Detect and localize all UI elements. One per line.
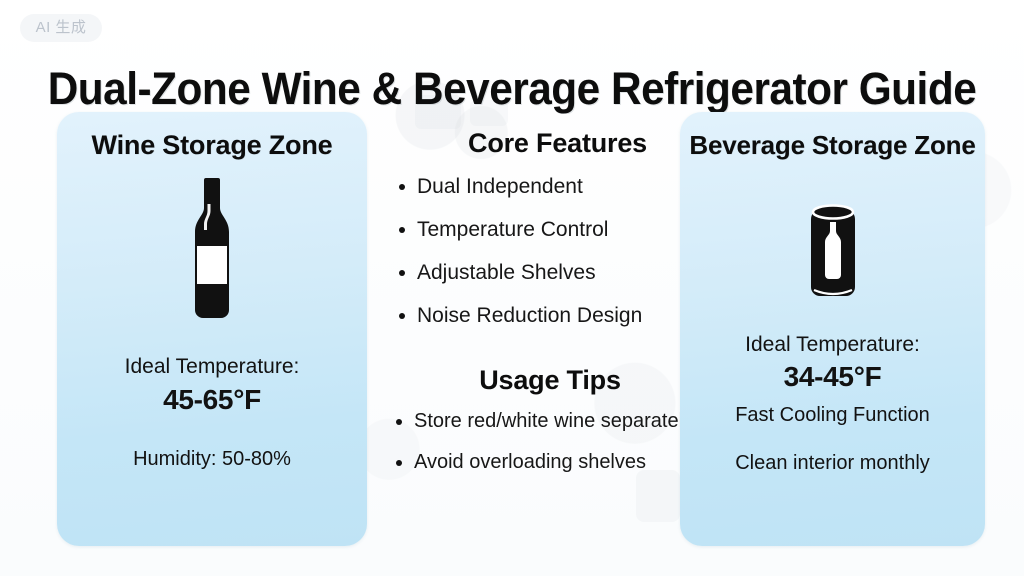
wine-temperature-label: Ideal Temperature: (57, 353, 367, 380)
core-features-list: Dual Independent Temperature Control Adj… (380, 165, 680, 337)
beverage-can-icon (805, 200, 861, 309)
bullet-dot-icon (399, 313, 405, 319)
wine-temperature-value: 45-65°F (57, 383, 367, 417)
bullet-dot-icon (399, 270, 405, 276)
list-item: Adjustable Shelves (380, 251, 680, 294)
list-item: Store red/white wine separately (380, 401, 680, 442)
beverage-temperature-value: 34-45°F (680, 360, 985, 394)
list-item: Dual Independent (380, 165, 680, 208)
page-title: Dual-Zone Wine & Beverage Refrigerator G… (31, 60, 994, 118)
bullet-dot-icon (399, 184, 405, 190)
beverage-zone-title: Beverage Storage Zone (680, 128, 985, 162)
list-item: Temperature Control (380, 208, 680, 251)
list-item: Noise Reduction Design (380, 294, 680, 337)
list-item-label: Temperature Control (417, 218, 608, 241)
wine-storage-zone-card: Wine Storage Zone Ideal Temperature: 45-… (57, 112, 367, 546)
wine-zone-title: Wine Storage Zone (57, 128, 367, 162)
list-item-label: Dual Independent (417, 175, 583, 198)
ai-generated-watermark: AI 生成 (20, 14, 102, 42)
beverage-feature-fast-cooling: Fast Cooling Function (680, 402, 985, 428)
beverage-temperature-label: Ideal Temperature: (680, 331, 985, 358)
usage-tips-section: Usage Tips Store red/white wine separate… (380, 363, 680, 483)
wine-bottle-icon (182, 174, 242, 329)
usage-tips-heading: Usage Tips (420, 363, 680, 397)
list-item-label: Adjustable Shelves (417, 261, 596, 284)
list-item-label: Store red/white wine separately (414, 410, 693, 432)
list-item: Avoid overloading shelves (380, 442, 680, 483)
bullet-dot-icon (396, 460, 402, 466)
beverage-feature-clean-interior: Clean interior monthly (680, 450, 985, 476)
usage-tips-list: Store red/white wine separately Avoid ov… (380, 401, 680, 483)
center-content-column: Core Features Dual Independent Temperatu… (380, 126, 680, 483)
bullet-dot-icon (396, 419, 402, 425)
core-features-heading: Core Features (435, 126, 680, 160)
list-item-label: Noise Reduction Design (417, 304, 642, 327)
wine-humidity-value: Humidity: 50-80% (57, 446, 367, 472)
list-item-label: Avoid overloading shelves (414, 451, 646, 473)
infographic-canvas: AI 生成 Dual-Zone Wine & Beverage Refriger… (0, 0, 1024, 576)
bullet-dot-icon (399, 227, 405, 233)
beverage-storage-zone-card: Beverage Storage Zone Ideal Temperature:… (680, 112, 985, 546)
